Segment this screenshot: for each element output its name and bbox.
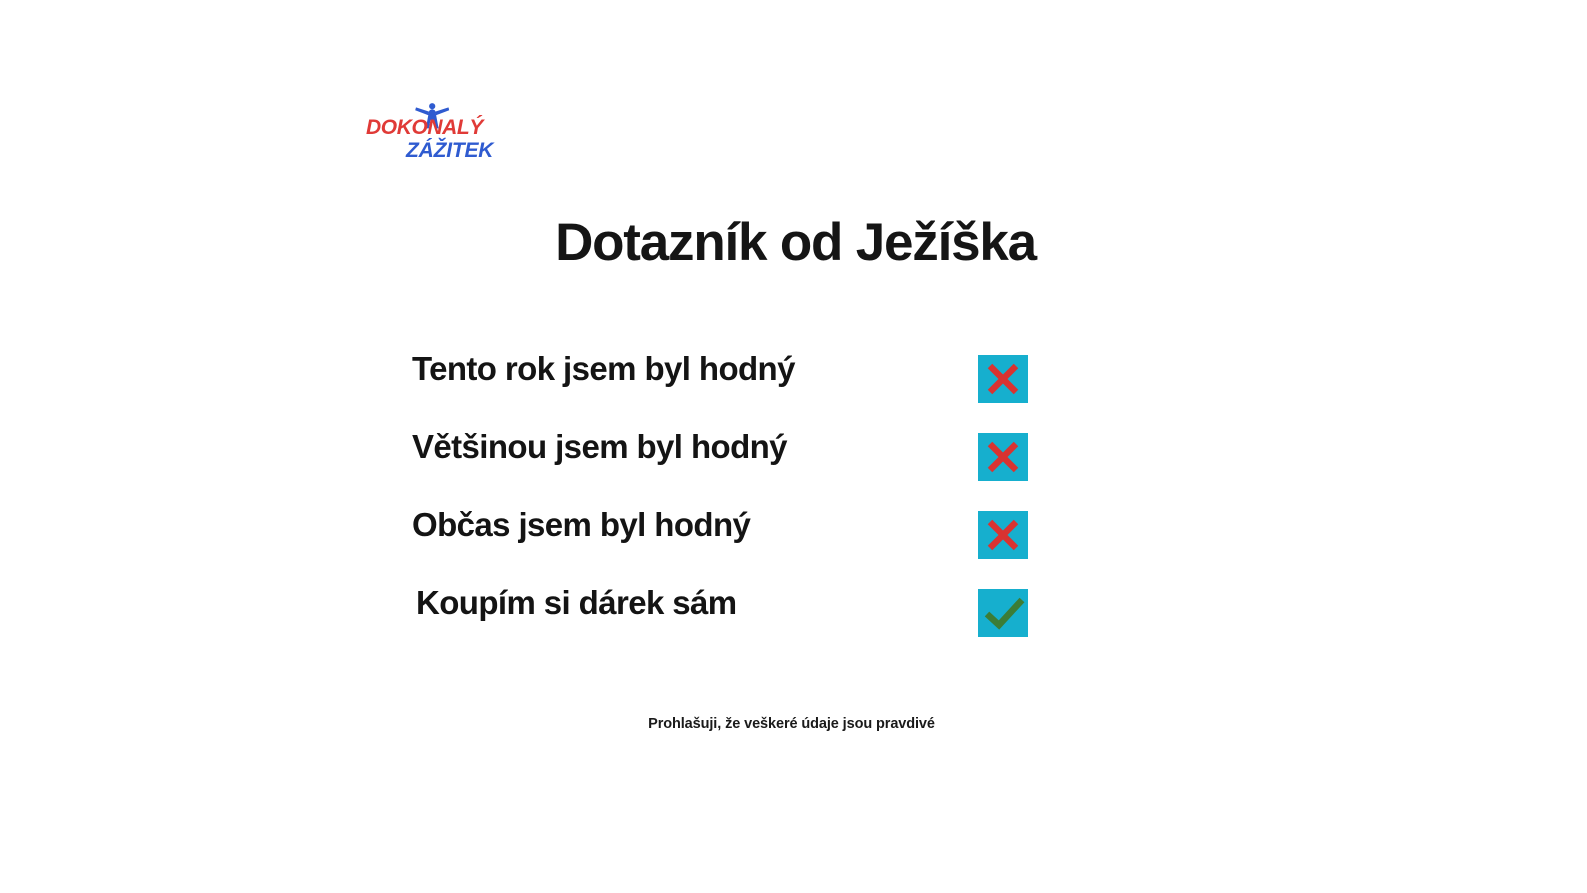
- questionnaire-option-label: Většinou jsem byl hodný: [412, 426, 787, 467]
- questionnaire-option-label: Tento rok jsem byl hodný: [412, 348, 795, 389]
- check-icon: [987, 600, 1022, 625]
- checkbox-option-3[interactable]: [978, 511, 1028, 559]
- list-item[interactable]: Koupím si dárek sám: [412, 582, 1032, 660]
- checkbox-option-2[interactable]: [978, 433, 1028, 481]
- questionnaire-list: Tento rok jsem byl hodný Většinou jsem b…: [412, 348, 1032, 660]
- page-title: Dotazník od Ježíška: [2, 214, 1587, 272]
- brand-logo: DOKONALÝ ZÁŽITEK: [366, 100, 492, 168]
- checkbox-option-1[interactable]: [978, 355, 1028, 403]
- logo-word-zazitek: ZÁŽITEK: [406, 140, 493, 161]
- list-item[interactable]: Většinou jsem byl hodný: [412, 426, 1032, 504]
- checkbox-option-4[interactable]: [978, 589, 1028, 637]
- cross-icon: [990, 366, 1016, 392]
- logo-word-dokonaly: DOKONALÝ: [366, 117, 483, 138]
- cross-icon: [990, 444, 1016, 470]
- list-item[interactable]: Tento rok jsem byl hodný: [412, 348, 1032, 426]
- questionnaire-option-label: Koupím si dárek sám: [416, 582, 737, 623]
- cross-icon: [990, 522, 1016, 548]
- declaration-text: Prohlašuji, že veškeré údaje jsou pravdi…: [0, 716, 1585, 732]
- questionnaire-option-label: Občas jsem byl hodný: [412, 504, 750, 545]
- slide-canvas: DOKONALÝ ZÁŽITEK Dotazník od Ježíška Ten…: [0, 0, 1587, 893]
- list-item[interactable]: Občas jsem byl hodný: [412, 504, 1032, 582]
